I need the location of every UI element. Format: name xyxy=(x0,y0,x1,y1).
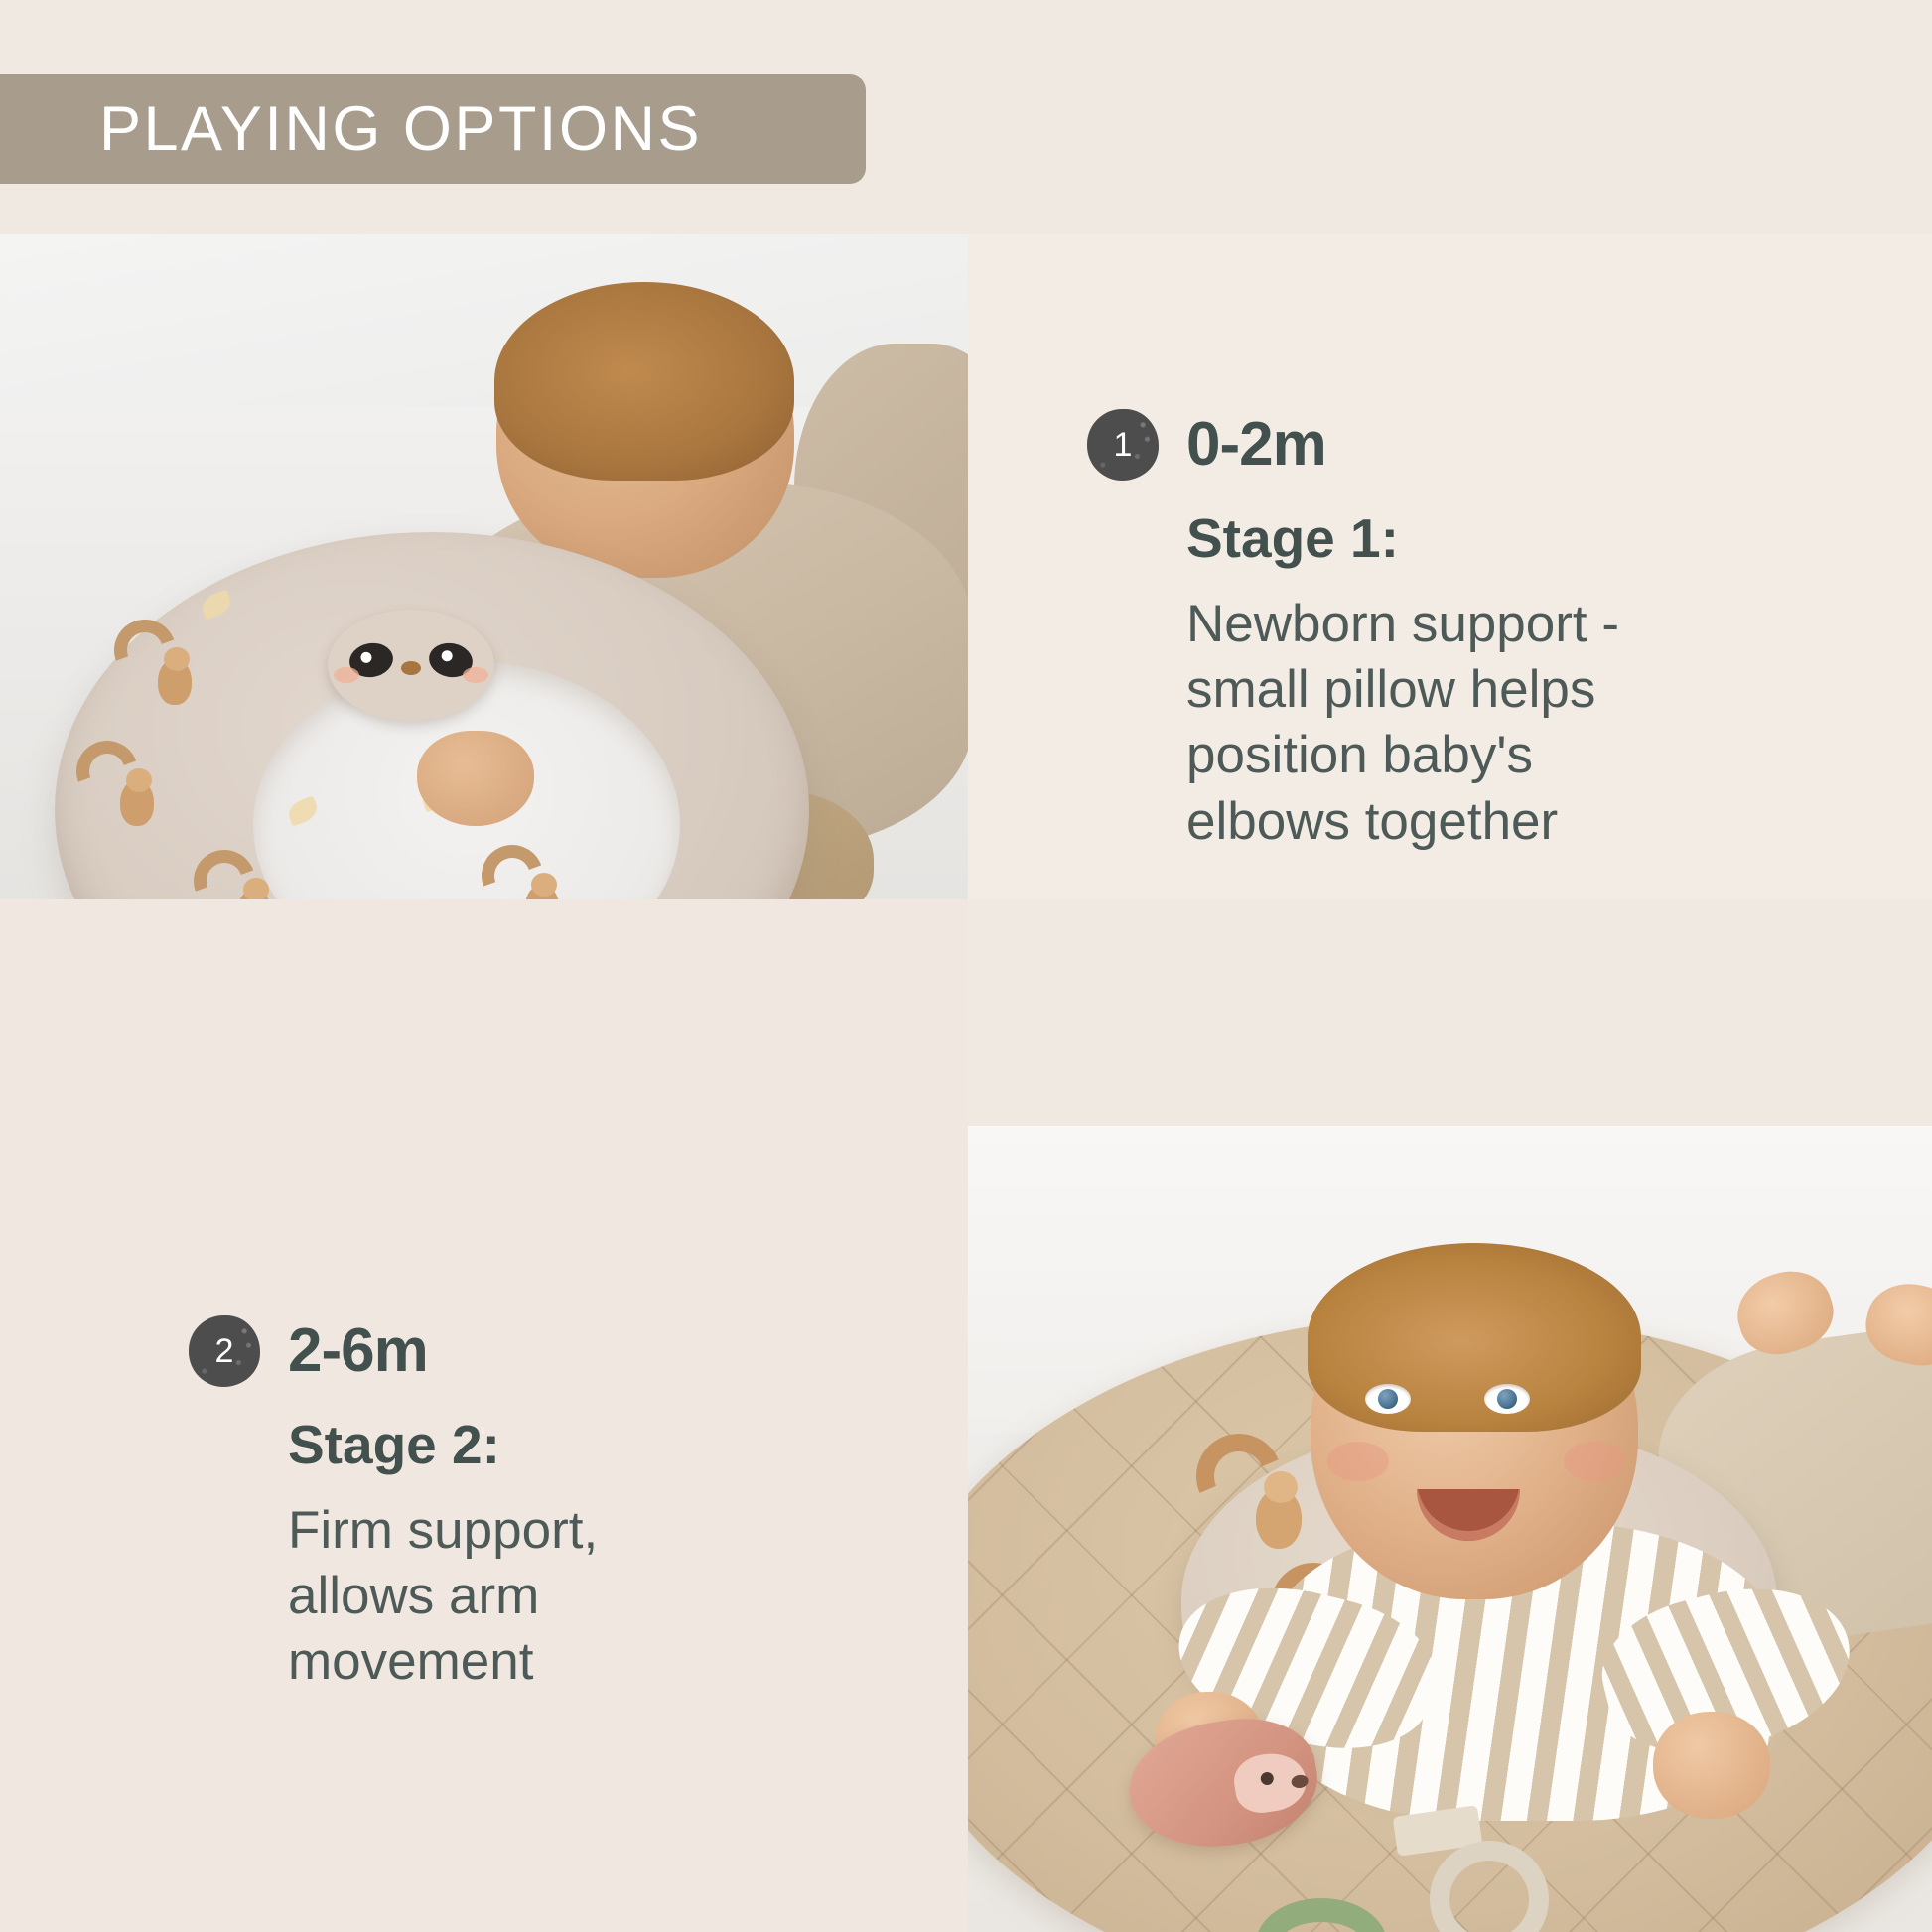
photo-1-baby-hand xyxy=(417,731,534,826)
stage-1-label: Stage 1: xyxy=(1186,510,1619,568)
stage-2-description-line: Firm support, xyxy=(288,1498,598,1564)
stage-block-1: 1 0-2m Stage 1: Newborn support - small … xyxy=(1087,409,1619,855)
stage-2-description-line: movement xyxy=(288,1629,598,1695)
stage-2-number-badge: 2 xyxy=(189,1315,260,1387)
header-banner: PLAYING OPTIONS xyxy=(0,74,866,184)
photo-stage-2 xyxy=(968,1126,1932,1932)
stage-1-description-line: Newborn support - xyxy=(1186,592,1619,657)
stage-2-label: Stage 2: xyxy=(288,1417,598,1474)
photo-2-baby-cheek xyxy=(1327,1442,1389,1481)
stage-1-number: 1 xyxy=(1114,428,1133,462)
stage-block-2: 2 2-6m Stage 2: Firm support, allows arm… xyxy=(189,1315,598,1696)
photo-2-baby-eye xyxy=(1365,1384,1411,1414)
stage-1-description-line: elbows together xyxy=(1186,789,1619,855)
squirrel-motif-icon xyxy=(194,850,279,899)
stage-1-description-line: position baby's xyxy=(1186,723,1619,788)
photo-stage-1 xyxy=(0,234,968,899)
photo-2-baby-cheek xyxy=(1564,1442,1625,1481)
stage-2-age-label: 2-6m xyxy=(288,1320,428,1382)
photo-2-baby-hair xyxy=(1308,1243,1641,1432)
stage-1-description-line: small pillow helps xyxy=(1186,657,1619,723)
stage-2-number: 2 xyxy=(215,1334,234,1368)
photo-2-baby-eye xyxy=(1484,1384,1530,1414)
stage-2-heading-row: 2 2-6m xyxy=(189,1315,598,1387)
stage-1-age-label: 0-2m xyxy=(1186,414,1326,476)
stage-1-number-badge: 1 xyxy=(1087,409,1159,481)
page-title: PLAYING OPTIONS xyxy=(0,93,702,165)
leaf-motif-icon xyxy=(199,590,234,621)
squirrel-motif-icon xyxy=(76,741,162,836)
panda-toy-icon xyxy=(328,610,494,721)
stage-1-description: Newborn support - small pillow helps pos… xyxy=(1186,592,1619,855)
squirrel-motif-icon xyxy=(482,845,567,899)
stage-2-description: Firm support, allows arm movement xyxy=(288,1498,598,1696)
squirrel-motif-icon xyxy=(114,620,200,715)
photo-2-baby-fist-right xyxy=(1653,1712,1770,1819)
squirrel-motif-icon xyxy=(1196,1434,1315,1563)
stage-1-heading-row: 1 0-2m xyxy=(1087,409,1619,481)
photo-1-baby-hair xyxy=(494,282,794,481)
stage-2-description-line: allows arm xyxy=(288,1564,598,1629)
